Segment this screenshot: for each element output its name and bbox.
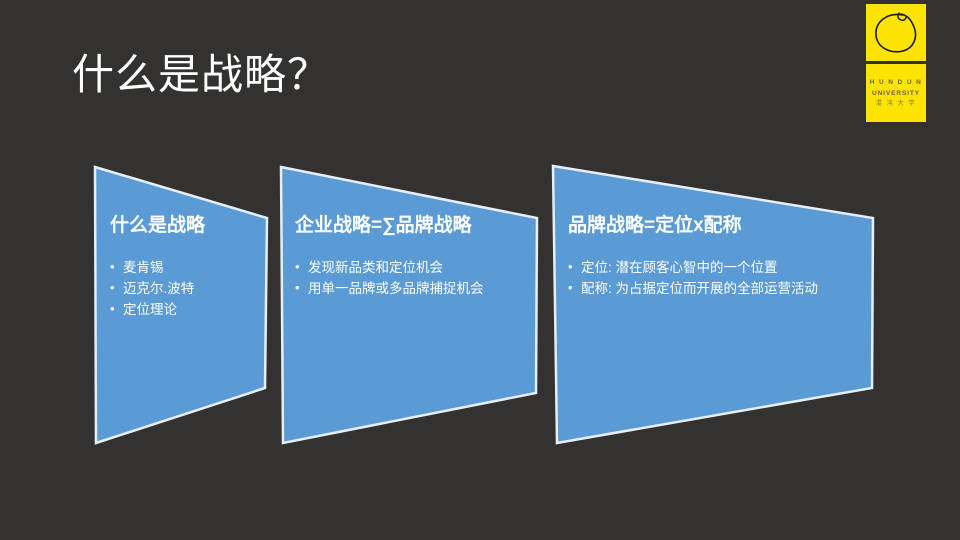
logo-mark-block xyxy=(866,4,926,61)
panel-1-heading: 什么是战略 xyxy=(110,213,205,239)
list-item: 定位理论 xyxy=(110,299,205,320)
logo-line-chinese: 混 沌 大 学 xyxy=(876,99,916,110)
logo-line-hundun: H U N D U N xyxy=(870,77,923,88)
panel-2-bullet-list: 发现新品类和定位机会 用单一品牌或多品牌捕捉机会 xyxy=(295,257,484,299)
logo-line-university: UNIVERSITY xyxy=(872,88,920,99)
list-item: 配称: 为占据定位而开展的全部运营活动 xyxy=(568,278,818,299)
list-item: 定位: 潜在顾客心智中的一个位置 xyxy=(568,257,818,278)
panel-2-heading: 企业战略=∑品牌战略 xyxy=(295,213,484,239)
page-title: 什么是战略？ xyxy=(72,50,330,100)
panel-3-bullet-list: 定位: 潜在顾客心智中的一个位置 配称: 为占据定位而开展的全部运营活动 xyxy=(568,257,818,299)
list-item: 迈克尔.波特 xyxy=(110,278,205,299)
panel-3-heading: 品牌战略=定位x配称 xyxy=(568,213,818,239)
hand-drawn-circle-icon xyxy=(873,10,919,55)
logo-text-block: H U N D U N UNIVERSITY 混 沌 大 学 xyxy=(866,64,926,122)
panel-1-bullet-list: 麦肯锡 迈克尔.波特 定位理论 xyxy=(110,257,205,320)
panel-2: 企业战略=∑品牌战略 发现新品类和定位机会 用单一品牌或多品牌捕捉机会 xyxy=(295,213,484,299)
panel-shape-2 xyxy=(281,167,537,443)
hundun-university-logo: H U N D U N UNIVERSITY 混 沌 大 学 xyxy=(866,4,926,122)
slide-canvas: 什么是战略？ H U N D U N UNIVERSITY 混 沌 大 学 什么… xyxy=(0,0,960,540)
list-item: 麦肯锡 xyxy=(110,257,205,278)
panel-1: 什么是战略 麦肯锡 迈克尔.波特 定位理论 xyxy=(110,213,205,320)
panel-3: 品牌战略=定位x配称 定位: 潜在顾客心智中的一个位置 配称: 为占据定位而开展… xyxy=(568,213,818,299)
panel-shape-3 xyxy=(553,166,873,443)
list-item: 用单一品牌或多品牌捕捉机会 xyxy=(295,278,484,299)
list-item: 发现新品类和定位机会 xyxy=(295,257,484,278)
